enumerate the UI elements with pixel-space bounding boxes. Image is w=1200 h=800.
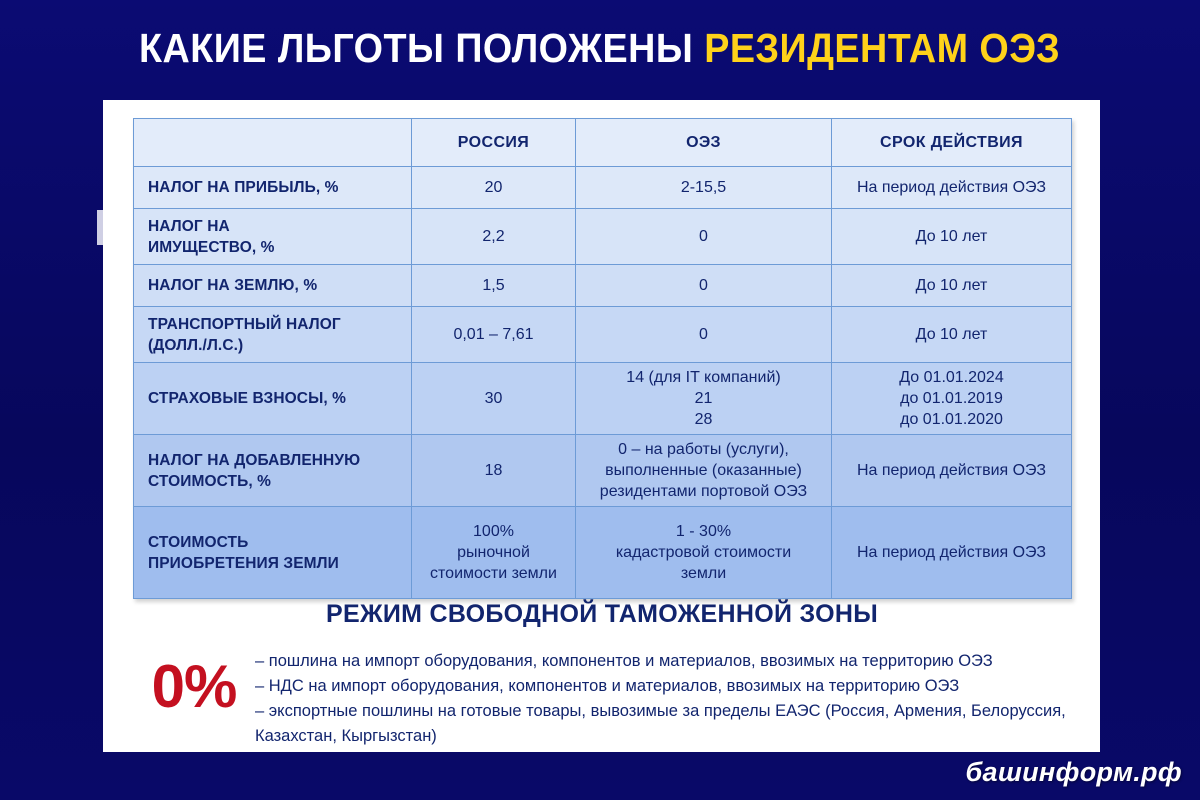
- row-label: НАЛОГ НАИМУЩЕСТВО, %: [134, 209, 412, 265]
- infographic-poster: КАКИЕ ЛЬГОТЫ ПОЛОЖЕНЫ РЕЗИДЕНТАМ ОЭЗ РОС…: [0, 0, 1200, 800]
- table-row: НАЛОГ НА ДОБАВЛЕННУЮСТОИМОСТЬ, % 18 0 – …: [134, 435, 1072, 507]
- poster-title: КАКИЕ ЛЬГОТЫ ПОЛОЖЕНЫ РЕЗИДЕНТАМ ОЭЗ: [0, 22, 1200, 74]
- list-item: – пошлина на импорт оборудования, компон…: [255, 649, 1071, 674]
- list-item: – экспортные пошлины на готовые товары, …: [255, 699, 1071, 749]
- row-term: До 01.01.2024до 01.01.2019до 01.01.2020: [832, 363, 1072, 435]
- row-term: До 10 лет: [832, 209, 1072, 265]
- zero-percent-badge: 0%: [133, 643, 255, 719]
- table-row: СТРАХОВЫЕ ВЗНОСЫ, % 30 14 (для IT компан…: [134, 363, 1072, 435]
- row-term: На период действия ОЭЗ: [832, 435, 1072, 507]
- column-header-sez: ОЭЗ: [576, 119, 832, 167]
- row-sez: 2-15,5: [576, 167, 832, 209]
- row-russia: 100%рыночнойстоимости земли: [412, 507, 576, 599]
- row-label: СТОИМОСТЬПРИОБРЕТЕНИЯ ЗЕМЛИ: [134, 507, 412, 599]
- benefits-table: РОССИЯ ОЭЗ СРОК ДЕЙСТВИЯ НАЛОГ НА ПРИБЫЛ…: [133, 118, 1072, 599]
- row-term: До 10 лет: [832, 307, 1072, 363]
- table-row: СТОИМОСТЬПРИОБРЕТЕНИЯ ЗЕМЛИ 100%рыночной…: [134, 507, 1072, 599]
- row-label: СТРАХОВЫЕ ВЗНОСЫ, %: [134, 363, 412, 435]
- card-edge-artifact: [97, 210, 103, 245]
- row-sez: 0 – на работы (услуги),выполненные (оказ…: [576, 435, 832, 507]
- row-russia: 30: [412, 363, 576, 435]
- row-sez: 14 (для IT компаний)2128: [576, 363, 832, 435]
- table-header-row: РОССИЯ ОЭЗ СРОК ДЕЙСТВИЯ: [134, 119, 1072, 167]
- row-label: НАЛОГ НА ДОБАВЛЕННУЮСТОИМОСТЬ, %: [134, 435, 412, 507]
- column-header-russia: РОССИЯ: [412, 119, 576, 167]
- column-header-blank: [134, 119, 412, 167]
- row-russia: 2,2: [412, 209, 576, 265]
- row-term: На период действия ОЭЗ: [832, 167, 1072, 209]
- table-row: НАЛОГ НА ПРИБЫЛЬ, % 20 2-15,5 На период …: [134, 167, 1072, 209]
- free-customs-zone-heading: РЕЖИМ СВОБОДНОЙ ТАМОЖЕННОЙ ЗОНЫ: [133, 600, 1071, 629]
- row-label: ТРАНСПОРТНЫЙ НАЛОГ(ДОЛЛ./Л.С.): [134, 307, 412, 363]
- title-text-group: КАКИЕ ЛЬГОТЫ ПОЛОЖЕНЫ РЕЗИДЕНТАМ ОЭЗ: [139, 22, 1060, 74]
- row-sez: 0: [576, 307, 832, 363]
- row-russia: 0,01 – 7,61: [412, 307, 576, 363]
- column-header-term: СРОК ДЕЙСТВИЯ: [832, 119, 1072, 167]
- row-russia: 18: [412, 435, 576, 507]
- row-term: До 10 лет: [832, 265, 1072, 307]
- row-russia: 20: [412, 167, 576, 209]
- brand-watermark: башинформ.рф: [965, 757, 1182, 788]
- title-main-text: КАКИЕ ЛЬГОТЫ ПОЛОЖЕНЫ: [139, 25, 693, 71]
- list-item: – НДС на импорт оборудования, компоненто…: [255, 674, 1071, 699]
- row-label: НАЛОГ НА ПРИБЫЛЬ, %: [134, 167, 412, 209]
- row-sez: 0: [576, 265, 832, 307]
- free-customs-zone-list: – пошлина на импорт оборудования, компон…: [255, 643, 1071, 749]
- row-sez: 1 - 30%кадастровой стоимостиземли: [576, 507, 832, 599]
- row-russia: 1,5: [412, 265, 576, 307]
- table-row: НАЛОГ НАИМУЩЕСТВО, % 2,2 0 До 10 лет: [134, 209, 1072, 265]
- row-label: НАЛОГ НА ЗЕМЛЮ, %: [134, 265, 412, 307]
- content-card: РОССИЯ ОЭЗ СРОК ДЕЙСТВИЯ НАЛОГ НА ПРИБЫЛ…: [103, 100, 1100, 752]
- row-sez: 0: [576, 209, 832, 265]
- row-term: На период действия ОЭЗ: [832, 507, 1072, 599]
- table-row: НАЛОГ НА ЗЕМЛЮ, % 1,5 0 До 10 лет: [134, 265, 1072, 307]
- title-accent-text: РЕЗИДЕНТАМ ОЭЗ: [694, 25, 1061, 71]
- free-customs-zone-body: 0% – пошлина на импорт оборудования, ком…: [133, 643, 1071, 749]
- table-row: ТРАНСПОРТНЫЙ НАЛОГ(ДОЛЛ./Л.С.) 0,01 – 7,…: [134, 307, 1072, 363]
